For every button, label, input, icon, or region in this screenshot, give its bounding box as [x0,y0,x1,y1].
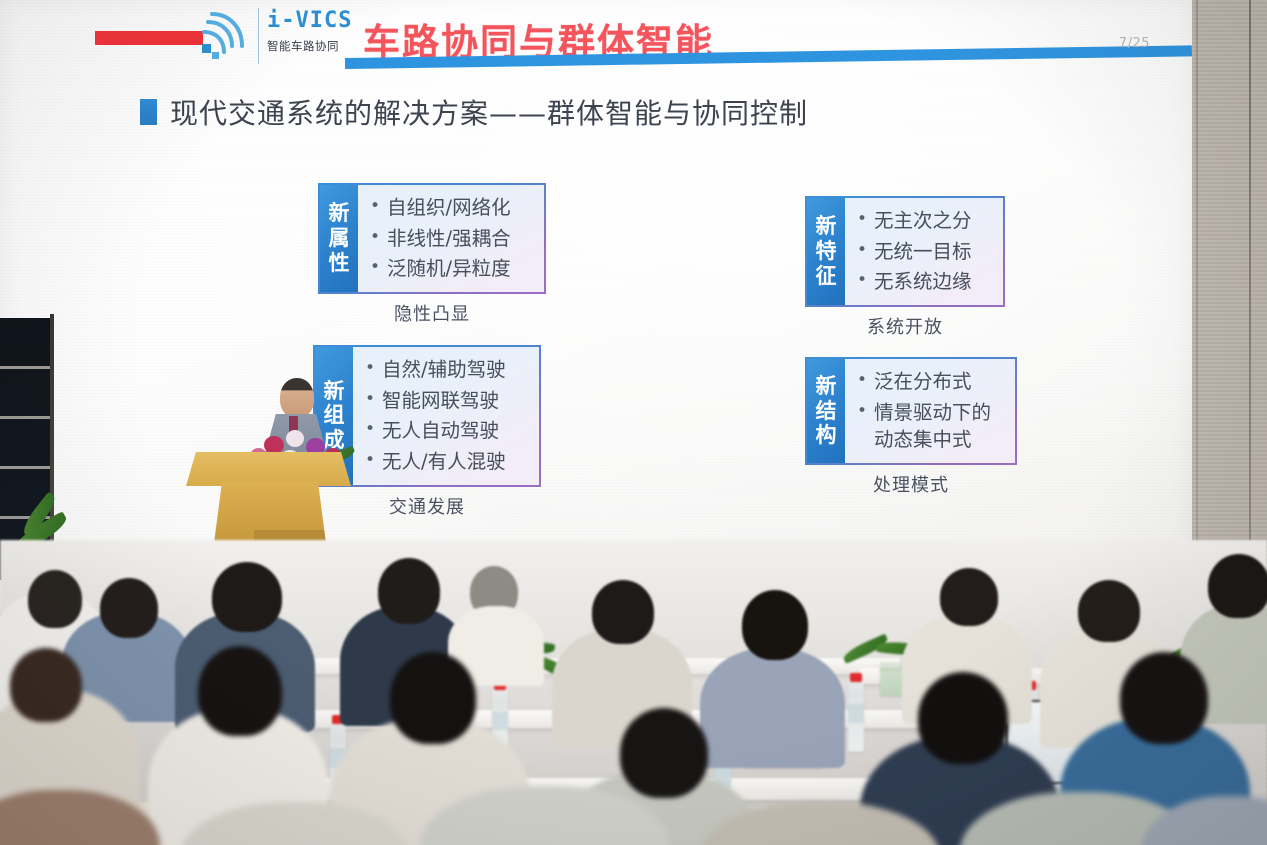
presenter-head [280,378,314,418]
audience-person-head [212,562,282,632]
list-item-text: 泛在分布式 [874,368,972,396]
box-label: 新 结 构 [807,359,845,463]
box-label-char: 新 [816,214,837,239]
logo-textblock: i-VICS 智能车路协同 [258,8,362,64]
list-item-text: 非线性/强耦合 [387,225,511,253]
audience-person-head [620,708,708,798]
audience-person-head [592,580,654,644]
logo-subtitle: 智能车路协同 [267,38,362,54]
bullet-icon: • [857,399,867,425]
box-item-list: •自组织/网络化 •非线性/强耦合 •泛随机/异粒度 [358,185,544,292]
box-frame: 新 属 性 •自组织/网络化 •非线性/强耦合 •泛随机/异粒度 [318,183,546,294]
box-label-char: 性 [329,251,350,276]
audience-person-head [390,652,476,744]
water-bottle [848,680,864,752]
box-label-char: 属 [329,226,350,251]
audience-person-head [10,648,82,722]
audience-person-head [742,590,808,660]
box-frame: 新 特 征 •无主次之分 •无统一目标 •无系统边缘 [805,196,1005,307]
box-label-char: 新 [329,201,350,226]
box-inner: 新 属 性 •自组织/网络化 •非线性/强耦合 •泛随机/异粒度 [320,185,544,292]
audience-area [0,540,1267,845]
bullet-icon: • [365,356,375,382]
list-item: •无主次之分 [857,207,989,235]
audience-person-head [1078,580,1140,642]
list-item: •情景驱动下的动态集中式 [857,399,1001,454]
bullet-icon: • [857,207,867,233]
box-item-list: •自然/辅助驾驶 •智能网联驾驶 •无人自动驾驶 •无人/有人混驶 [353,347,539,485]
list-item-text: 泛随机/异粒度 [387,255,511,283]
audience-person-head [1120,652,1208,744]
list-item: •无人/有人混驶 [365,448,525,476]
box-label-char: 结 [816,399,837,424]
list-item-text: 无人/有人混驶 [382,448,506,476]
list-item: •无统一目标 [857,238,989,266]
slide-header: i-VICS 智能车路协同 车路协同与群体智能 7/25 [0,0,1192,74]
bullet-icon: • [370,255,380,281]
list-item-text: 情景驱动下的动态集中式 [874,399,1001,454]
audience-person-head [198,646,282,736]
box-caption: 处理模式 [805,471,1017,497]
bullet-icon: • [370,194,380,220]
list-item-text: 自然/辅助驾驶 [382,356,506,384]
bullet-icon: • [857,368,867,394]
audience-person-head [918,672,1008,764]
list-item: •自组织/网络化 [370,194,530,222]
audience-person [700,648,845,768]
audience-person-head [28,570,82,628]
list-item: •泛在分布式 [857,368,1001,396]
audience-person-head [100,578,158,638]
box-frame: 新 结 构 •泛在分布式 •情景驱动下的动态集中式 [805,357,1017,465]
list-item: •非线性/强耦合 [370,225,530,253]
box-item-list: •无主次之分 •无统一目标 •无系统边缘 [845,198,1003,305]
box-label-char: 构 [816,423,837,448]
box-label-char: 征 [816,264,837,289]
list-item-text: 自组织/网络化 [387,194,511,222]
box-caption: 系统开放 [805,313,1005,339]
ivics-logo-icon [198,10,254,62]
audience-person-head [1208,554,1267,618]
box-item-list: •泛在分布式 •情景驱动下的动态集中式 [845,359,1015,463]
box-label-char: 特 [816,239,837,264]
bullet-icon: • [857,268,867,294]
section-bullet-icon [140,99,157,125]
section-title-text: 现代交通系统的解决方案——群体智能与协同控制 [170,92,808,132]
bullet-icon: • [365,448,375,474]
bullet-icon: • [365,387,375,413]
list-item: •无系统边缘 [857,268,989,296]
screenshot-stage: i-VICS 智能车路协同 车路协同与群体智能 7/25 现代交通系统的解决方案… [0,0,1267,845]
podium-top [186,452,351,486]
bullet-icon: • [370,225,380,251]
audience-person-head [378,558,440,624]
list-item: •智能网联驾驶 [365,387,525,415]
content-box-new-attributes: 新 属 性 •自组织/网络化 •非线性/强耦合 •泛随机/异粒度 隐性凸显 [318,183,546,326]
list-item: •泛随机/异粒度 [370,255,530,283]
page-indicator: 7/25 [1119,36,1150,51]
box-label: 新 特 征 [807,198,845,305]
audience-person-head [940,568,998,626]
box-inner: 新 特 征 •无主次之分 •无统一目标 •无系统边缘 [807,198,1003,305]
box-label-char: 新 [816,374,837,399]
list-item-text: 无系统边缘 [874,268,972,296]
header-red-accent-bar [95,31,203,45]
list-item-text: 无统一目标 [874,238,972,266]
list-item-text: 无人自动驾驶 [382,417,499,445]
box-caption: 隐性凸显 [318,300,546,326]
content-box-new-features: 新 特 征 •无主次之分 •无统一目标 •无系统边缘 系统开放 [805,196,1005,339]
box-label: 新 属 性 [320,185,358,292]
list-item-text: 无主次之分 [874,207,972,235]
list-item: •无人自动驾驶 [365,417,525,445]
box-inner: 新 结 构 •泛在分布式 •情景驱动下的动态集中式 [807,359,1015,463]
list-item-text: 智能网联驾驶 [382,387,499,415]
content-box-new-structure: 新 结 构 •泛在分布式 •情景驱动下的动态集中式 处理模式 [805,357,1017,497]
bullet-icon: • [365,417,375,443]
section-title: 现代交通系统的解决方案——群体智能与协同控制 [140,92,808,132]
logo-wordmark: i-VICS [267,8,362,34]
list-item: •自然/辅助驾驶 [365,356,525,384]
bullet-icon: • [857,238,867,264]
